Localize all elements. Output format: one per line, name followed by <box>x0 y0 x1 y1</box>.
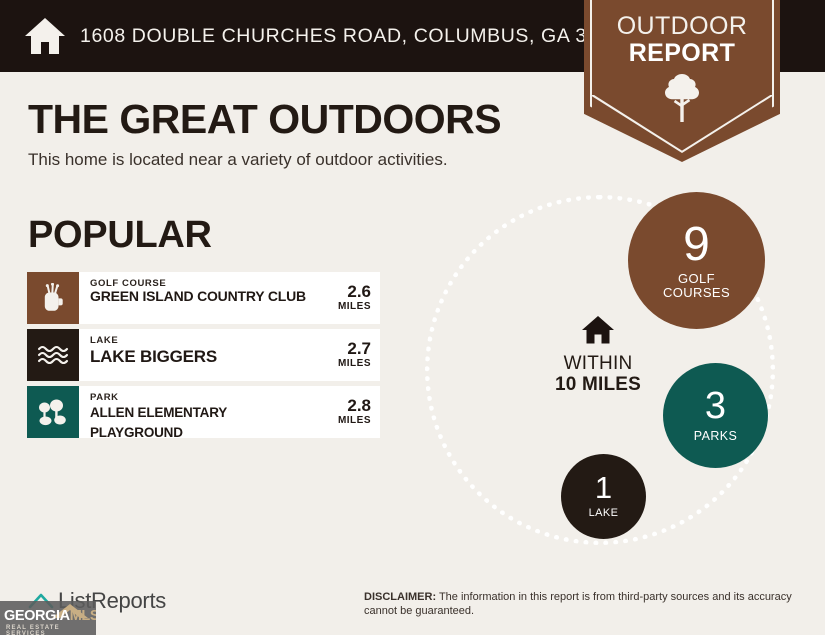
disclaimer: DISCLAIMER: The information in this repo… <box>364 591 794 618</box>
poi-icon-tile <box>27 386 79 438</box>
mls-wordmark: GEORGIAMLS <box>4 609 96 624</box>
poi-distance-value: 2.6 <box>319 283 371 301</box>
within-label: WITHIN <box>528 353 668 374</box>
waves-icon <box>37 343 69 367</box>
poi-distance: 2.7 MILES <box>319 329 380 381</box>
poi-distance: 2.8 MILES <box>319 386 380 438</box>
poi-category: LAKE <box>90 335 315 346</box>
stat-count: 1 <box>595 473 612 503</box>
stat-label: PARKS <box>694 429 737 443</box>
list-item[interactable]: GOLF COURSE GREEN ISLAND COUNTRY CLUB 2.… <box>27 272 380 324</box>
disclaimer-label: DISCLAIMER: <box>364 591 436 603</box>
stat-circle-golf-courses: 9 GOLF COURSES <box>628 192 765 329</box>
stat-circle-parks: 3 PARKS <box>663 363 768 468</box>
mls-tagline: REAL ESTATE SERVICES <box>6 625 96 635</box>
banner-title-line2: REPORT <box>584 39 780 68</box>
banner-title-line1: OUTDOOR <box>584 12 780 41</box>
poi-distance-unit: MILES <box>319 358 371 370</box>
poi-distance-unit: MILES <box>319 415 371 427</box>
mls-wordmark-mls: MLS <box>70 608 96 624</box>
page-title: THE GREAT OUTDOORS <box>28 96 501 143</box>
popular-list: GOLF COURSE GREEN ISLAND COUNTRY CLUB 2.… <box>27 272 380 443</box>
stat-label: LAKE <box>589 506 619 520</box>
stat-count: 3 <box>705 388 726 425</box>
home-icon <box>24 16 66 56</box>
radius-label: 10 MILES <box>528 374 668 395</box>
stat-label-line1: GOLF <box>663 272 730 286</box>
poi-name: LAKE BIGGERS <box>90 346 315 367</box>
stat-label: GOLF COURSES <box>663 272 730 300</box>
home-icon <box>581 315 615 345</box>
outdoor-stats-diagram: 9 GOLF COURSES 3 PARKS 1 LAKE WITHIN 10 … <box>420 175 820 565</box>
list-item[interactable]: LAKE LAKE BIGGERS 2.7 MILES <box>27 329 380 381</box>
poi-category: PARK <box>90 392 315 403</box>
list-item[interactable]: PARK ALLEN ELEMENTARY PLAYGROUND 2.8 MIL… <box>27 386 380 438</box>
property-address: 1608 DOUBLE CHURCHES ROAD, COLUMBUS, GA … <box>80 25 633 48</box>
poi-distance: 2.6 MILES <box>319 272 380 324</box>
poi-icon-tile <box>27 272 79 324</box>
poi-distance-value: 2.7 <box>319 340 371 358</box>
poi-name: GREEN ISLAND COUNTRY CLUB <box>90 289 315 305</box>
poi-distance-unit: MILES <box>319 301 371 313</box>
georgia-mls-watermark: GEORGIAMLS REAL ESTATE SERVICES <box>0 601 96 635</box>
poi-distance-value: 2.8 <box>319 397 371 415</box>
golf-bag-icon <box>39 283 67 313</box>
popular-heading: POPULAR <box>28 214 212 257</box>
poi-text: PARK ALLEN ELEMENTARY PLAYGROUND <box>79 386 319 438</box>
mls-wordmark-georgia: GEORGIA <box>4 608 70 624</box>
outdoor-report-banner: OUTDOOR REPORT <box>584 0 780 162</box>
poi-text: GOLF COURSE GREEN ISLAND COUNTRY CLUB <box>79 272 319 324</box>
page-subtitle: This home is located near a variety of o… <box>28 150 448 170</box>
poi-icon-tile <box>27 329 79 381</box>
poi-text: LAKE LAKE BIGGERS <box>79 329 319 381</box>
stat-label-line2: COURSES <box>663 286 730 300</box>
poi-name: ALLEN ELEMENTARY PLAYGROUND <box>90 403 315 443</box>
tree-icon <box>660 72 704 124</box>
diagram-center-label: WITHIN 10 MILES <box>528 315 668 395</box>
stat-circle-lake: 1 LAKE <box>561 454 646 539</box>
stat-count: 9 <box>683 221 710 268</box>
park-trees-icon <box>37 398 69 426</box>
